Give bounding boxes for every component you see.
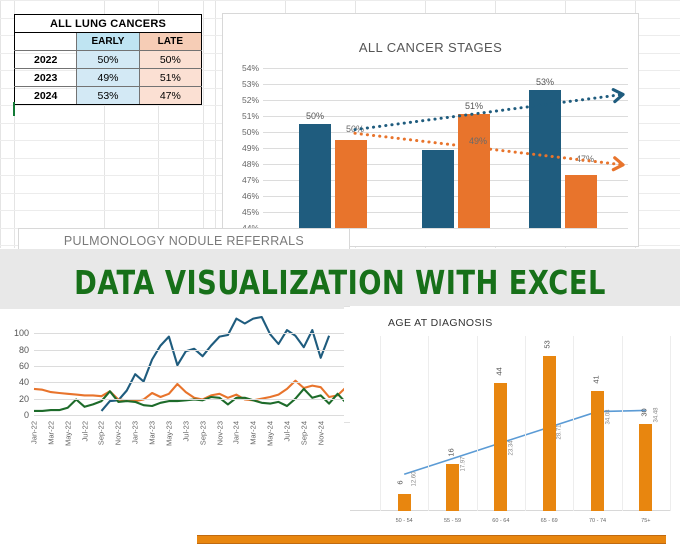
gridline — [34, 399, 346, 400]
line-series-biopsies — [34, 389, 346, 411]
y-axis-tick-label: 51% — [242, 111, 259, 121]
table-row: ALL LUNG CANCERS — [15, 15, 202, 33]
trendline-value-label: 17.97 — [460, 456, 466, 471]
y-axis-tick-label: 48% — [242, 159, 259, 169]
x-axis-tick-label: Jan-22 — [30, 421, 39, 444]
trendline-value-label: 12.60 — [412, 472, 418, 487]
cell-selection-marker — [13, 102, 15, 116]
bar-65-69 — [543, 356, 556, 511]
category-separator — [380, 336, 381, 511]
chart-pulmonology-header: PULMONOLOGY NODULE REFERRALS — [18, 228, 350, 251]
bar-2022-late — [335, 140, 367, 228]
chart-title: ALL CANCER STAGES — [223, 40, 638, 55]
x-axis-tick-label: 65 - 69 — [541, 518, 558, 524]
bar-2022-early — [299, 124, 331, 228]
table-row: 2023 49% 51% — [15, 69, 202, 87]
bar-value-label: 44 — [495, 367, 504, 375]
x-axis-tick-label: 50 - 54 — [396, 518, 413, 524]
row-label-2022: 2022 — [15, 51, 77, 69]
category-separator — [428, 336, 429, 511]
bar-70-74 — [591, 391, 604, 511]
y-axis-tick-label: 100 — [14, 328, 29, 338]
y-axis-tick-label: 53% — [242, 79, 259, 89]
cell-2022-late: 50% — [139, 51, 201, 69]
bar-50-54 — [398, 494, 411, 512]
y-axis-tick-label: 45% — [242, 207, 259, 217]
trendline-annotation: 50% — [346, 124, 364, 134]
all-lung-cancers-table[interactable]: ALL LUNG CANCERS EARLY LATE 2022 50% 50%… — [14, 14, 202, 105]
grid-row-line — [0, 0, 680, 1]
bar-2023-early — [422, 150, 454, 228]
category-separator — [477, 336, 478, 511]
gridline — [34, 333, 346, 334]
cell-2022-early: 50% — [77, 51, 139, 69]
bar-value-label: 41 — [591, 376, 600, 384]
dashboard-canvas: ALL LUNG CANCERS EARLY LATE 2022 50% 50%… — [0, 0, 680, 547]
chart-plot-area: 650 - 541655 - 594460 - 645365 - 694170 … — [350, 336, 670, 511]
bar-60-64 — [494, 383, 507, 511]
x-axis-tick-label: Jul-23 — [181, 421, 190, 441]
bar-value-label: 53 — [543, 341, 552, 349]
y-axis-tick-label: 0 — [24, 410, 29, 420]
x-axis-tick-label: May-24 — [266, 421, 275, 446]
bar-55-59 — [446, 464, 459, 511]
chart-age-at-diagnosis[interactable]: AGE AT DIAGNOSIS 650 - 541655 - 594460 -… — [350, 306, 680, 531]
bar-value-label: 6 — [396, 480, 405, 484]
x-axis-tick-label: May-23 — [164, 421, 173, 446]
y-axis-tick-label: 40 — [19, 377, 29, 387]
x-axis-tick-label: Nov-22 — [114, 421, 123, 445]
table-title: ALL LUNG CANCERS — [15, 15, 202, 33]
x-axis-tick-label: 55 - 59 — [444, 518, 461, 524]
bar-2024-early — [529, 90, 561, 228]
x-axis-tick-label: Jul-22 — [80, 421, 89, 441]
bar-value-label: 50% — [306, 111, 324, 121]
bar-value-label: 53% — [536, 77, 554, 87]
trendline-value-label: 23.34 — [508, 440, 514, 455]
bar-2024-late — [565, 175, 597, 228]
row-label-2024: 2024 — [15, 87, 77, 105]
gridline — [34, 366, 346, 367]
y-axis-tick-label: 80 — [19, 345, 29, 355]
y-axis-tick-label: 46% — [242, 191, 259, 201]
bar-value-label: 30 — [640, 408, 649, 416]
bar-value-label: 51% — [465, 101, 483, 111]
table-row: EARLY LATE — [15, 33, 202, 51]
row-label-2023: 2023 — [15, 69, 77, 87]
chart-pulmonology-nodule-referrals[interactable]: 020406080100 Jan-22Mar-22May-22Jul-22Sep… — [0, 309, 350, 461]
trendline-value-label: 34.48 — [653, 408, 659, 423]
table-corner-cell — [15, 33, 77, 51]
chart-all-cancer-stages[interactable]: ALL CANCER STAGES 54%53%52%51%50%49%48%4… — [222, 13, 639, 247]
y-axis-tick-label: 50% — [242, 127, 259, 137]
cell-2024-late: 47% — [139, 87, 201, 105]
bar-2023-late — [458, 114, 490, 228]
x-axis-tick-label: 60 - 64 — [492, 518, 509, 524]
chart-plot-area: 54%53%52%51%50%49%48%47%46%45%44%50%2022… — [263, 60, 628, 228]
x-axis-tick-label: Jan-24 — [232, 421, 241, 444]
column-header-early: EARLY — [77, 33, 139, 51]
footer-accent-bar — [197, 535, 666, 544]
chart-plot-area: 020406080100 — [34, 317, 346, 415]
chart-title: PULMONOLOGY NODULE REFERRALS — [19, 234, 349, 248]
x-axis-tick-label: Jul-24 — [282, 421, 291, 441]
cell-2023-late: 51% — [139, 69, 201, 87]
trendline-value-label: 34.08 — [605, 409, 611, 424]
y-axis-tick-label: 47% — [242, 175, 259, 185]
x-axis-tick-label: Sep-22 — [97, 421, 106, 445]
gridline — [263, 84, 628, 85]
y-axis-tick-label: 52% — [242, 95, 259, 105]
gridline — [263, 68, 628, 69]
category-separator — [622, 336, 623, 511]
gridline — [263, 100, 628, 101]
y-axis-tick-label: 54% — [242, 63, 259, 73]
bar-75+ — [639, 424, 652, 512]
y-axis-tick-label: 20 — [19, 394, 29, 404]
x-axis-tick-label: Nov-24 — [316, 421, 325, 445]
trendline-annotation: 47% — [576, 154, 594, 164]
y-axis-tick-label: 49% — [242, 143, 259, 153]
y-axis-tick-label: 60 — [19, 361, 29, 371]
category-separator — [525, 336, 526, 511]
x-axis-tick-label: 70 - 74 — [589, 518, 606, 524]
x-axis-tick-label: Sep-24 — [299, 421, 308, 445]
x-axis-tick-label: 75+ — [641, 518, 650, 524]
cell-2023-early: 49% — [77, 69, 139, 87]
banner: DATA VISUALIZATION WITH EXCEL — [0, 249, 680, 309]
gridline — [34, 382, 346, 383]
gridline — [34, 350, 346, 351]
chart-title: AGE AT DIAGNOSIS — [388, 317, 493, 329]
bar-value-label: 16 — [446, 449, 455, 457]
banner-title: DATA VISUALIZATION WITH EXCEL — [27, 263, 653, 302]
x-axis-tick-label: Jan-23 — [131, 421, 140, 444]
x-axis-tick-label: Mar-23 — [148, 421, 157, 445]
trendline-annotation: 49% — [469, 136, 487, 146]
x-axis-tick-label: Mar-24 — [249, 421, 258, 445]
trendline-value-label: 28.71 — [557, 425, 563, 440]
x-axis-tick-label: Nov-23 — [215, 421, 224, 445]
x-axis-tick-label: May-22 — [63, 421, 72, 446]
column-header-late: LATE — [139, 33, 201, 51]
gridline — [34, 415, 346, 416]
x-axis-tick-label: Mar-22 — [46, 421, 55, 445]
table-row: 2024 53% 47% — [15, 87, 202, 105]
table-row: 2022 50% 50% — [15, 51, 202, 69]
cell-2024-early: 53% — [77, 87, 139, 105]
category-separator — [670, 336, 671, 511]
category-separator — [573, 336, 574, 511]
x-axis-tick-label: Sep-23 — [198, 421, 207, 445]
